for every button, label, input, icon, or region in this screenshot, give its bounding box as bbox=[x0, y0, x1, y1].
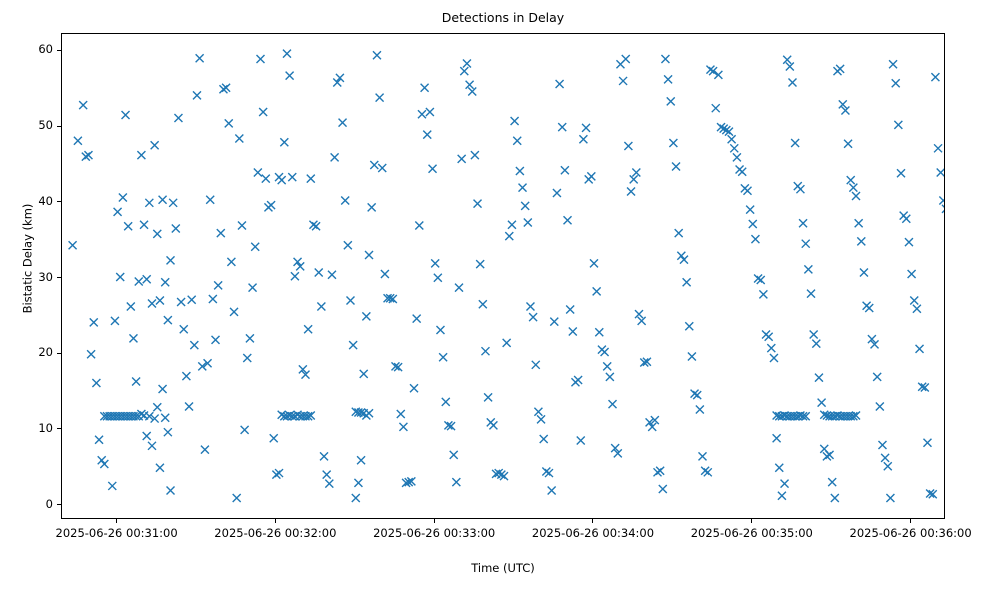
x-tick-mark bbox=[434, 519, 435, 523]
chart-title: Detections in Delay bbox=[61, 10, 945, 26]
y-tick-label: 0 bbox=[46, 498, 57, 510]
y-axis-label: Bistatic Delay (km) bbox=[22, 139, 35, 379]
x-tick-mark bbox=[116, 519, 117, 523]
y-tick-mark bbox=[57, 353, 61, 354]
plot-axes-area bbox=[61, 33, 945, 519]
y-tick-mark bbox=[57, 504, 61, 505]
y-tick-label: 60 bbox=[38, 43, 57, 55]
x-tick-label: 2025-06-26 00:35:00 bbox=[691, 526, 813, 540]
x-tick-label: 2025-06-26 00:34:00 bbox=[532, 526, 654, 540]
y-tick-mark bbox=[57, 277, 61, 278]
y-tick-mark bbox=[57, 201, 61, 202]
x-axis-label: Time (UTC) bbox=[61, 561, 945, 575]
y-tick-label: 30 bbox=[38, 271, 57, 283]
x-tick-label: 2025-06-26 00:36:00 bbox=[850, 526, 972, 540]
y-tick-mark bbox=[57, 50, 61, 51]
x-tick-mark bbox=[910, 519, 911, 523]
x-tick-label: 2025-06-26 00:33:00 bbox=[373, 526, 495, 540]
x-tick-mark bbox=[592, 519, 593, 523]
y-tick-label: 40 bbox=[38, 195, 57, 207]
matplotlib-figure: Detections in Delay 0102030405060 2025-0… bbox=[0, 0, 984, 590]
y-tick-mark bbox=[57, 428, 61, 429]
y-tick-label: 20 bbox=[38, 346, 57, 358]
x-tick-label: 2025-06-26 00:31:00 bbox=[56, 526, 178, 540]
x-tick-label: 2025-06-26 00:32:00 bbox=[214, 526, 336, 540]
y-tick-mark bbox=[57, 126, 61, 127]
scatter-series bbox=[62, 34, 945, 519]
y-tick-label: 10 bbox=[38, 422, 57, 434]
x-tick-mark bbox=[275, 519, 276, 523]
x-tick-mark bbox=[751, 519, 752, 523]
y-tick-label: 50 bbox=[38, 119, 57, 131]
